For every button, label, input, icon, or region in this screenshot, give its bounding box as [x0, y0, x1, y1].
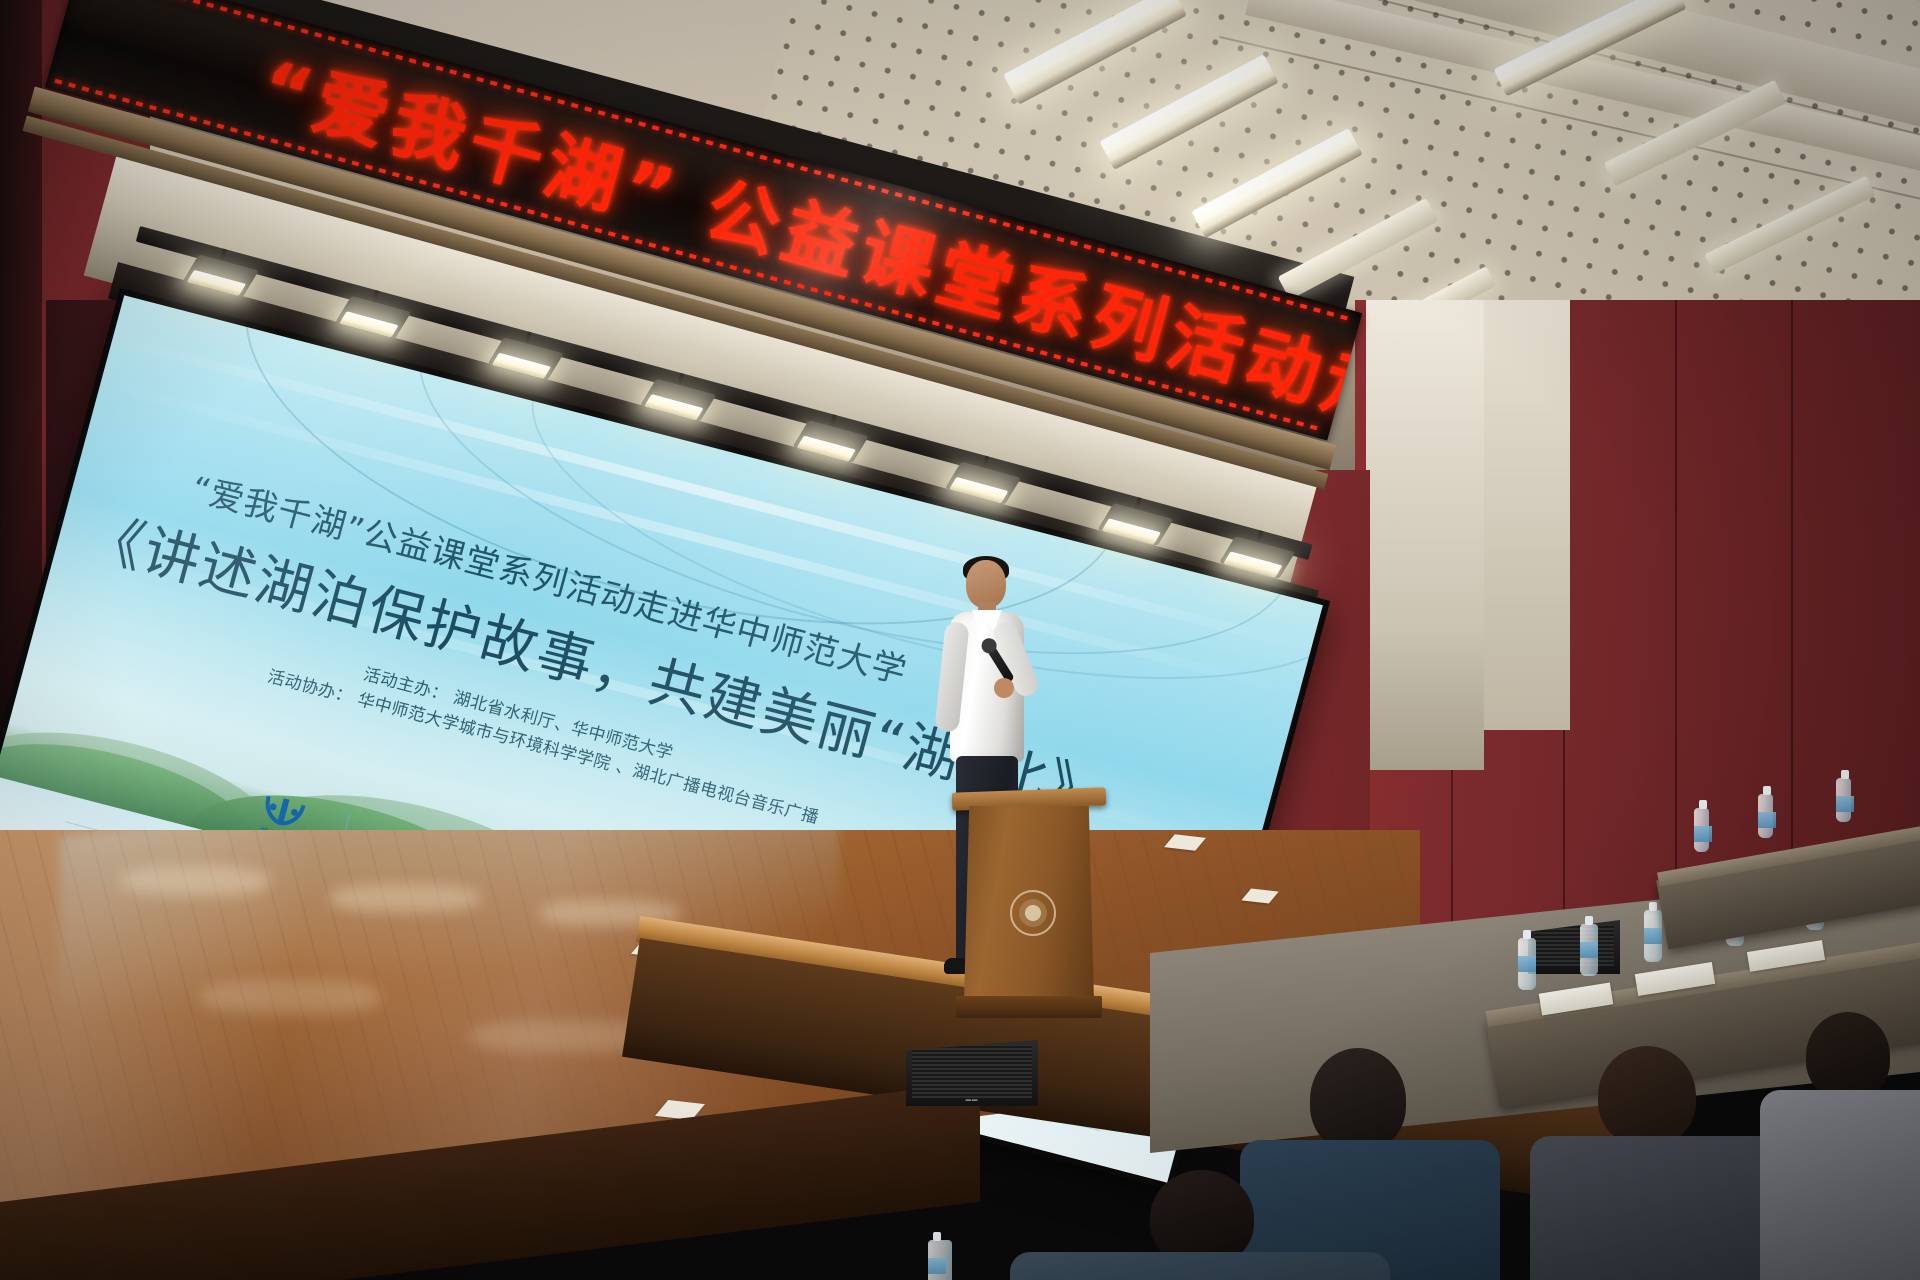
attendee-torso [1010, 1252, 1390, 1280]
water-bottle [1836, 778, 1851, 822]
attendee-front-center [1030, 1170, 1350, 1280]
wall-light-panel [1484, 300, 1570, 730]
attendee-torso [1760, 1090, 1920, 1280]
light-reflection [330, 884, 480, 912]
speaker-badge: ▁▁ [966, 1093, 979, 1101]
lectern-body [964, 806, 1094, 1002]
auditorium-photo: “爱我千湖”公益课堂系列活动走进华中师范大学 《讲述湖泊保护故事，共建美丽“湖”… [0, 0, 1920, 1280]
light-reflection [200, 980, 380, 1014]
attendee-front-right [1546, 1046, 1796, 1280]
school-emblem-icon [1010, 890, 1056, 936]
presenter-head [966, 560, 1006, 608]
audience-seating-far-right [1640, 800, 1920, 980]
water-bottle [1758, 794, 1773, 838]
speaker-grill [912, 1045, 1032, 1098]
water-bottle [1580, 924, 1598, 976]
stage-monitor-center: ▁▁ [906, 1040, 1038, 1106]
light-reflection [120, 866, 270, 896]
attendee-head [1806, 1012, 1890, 1100]
attendee-head [1598, 1046, 1696, 1146]
presenter-hand [994, 678, 1014, 698]
wooden-lectern[interactable] [958, 790, 1100, 1040]
lectern-base [956, 996, 1102, 1018]
attendee-back-right [1770, 1012, 1920, 1280]
water-bottle [1694, 808, 1709, 852]
water-bottle [928, 1240, 952, 1280]
attendee-head [1310, 1048, 1406, 1152]
wall-light-panel [1366, 300, 1484, 770]
water-bottle [1518, 938, 1536, 990]
